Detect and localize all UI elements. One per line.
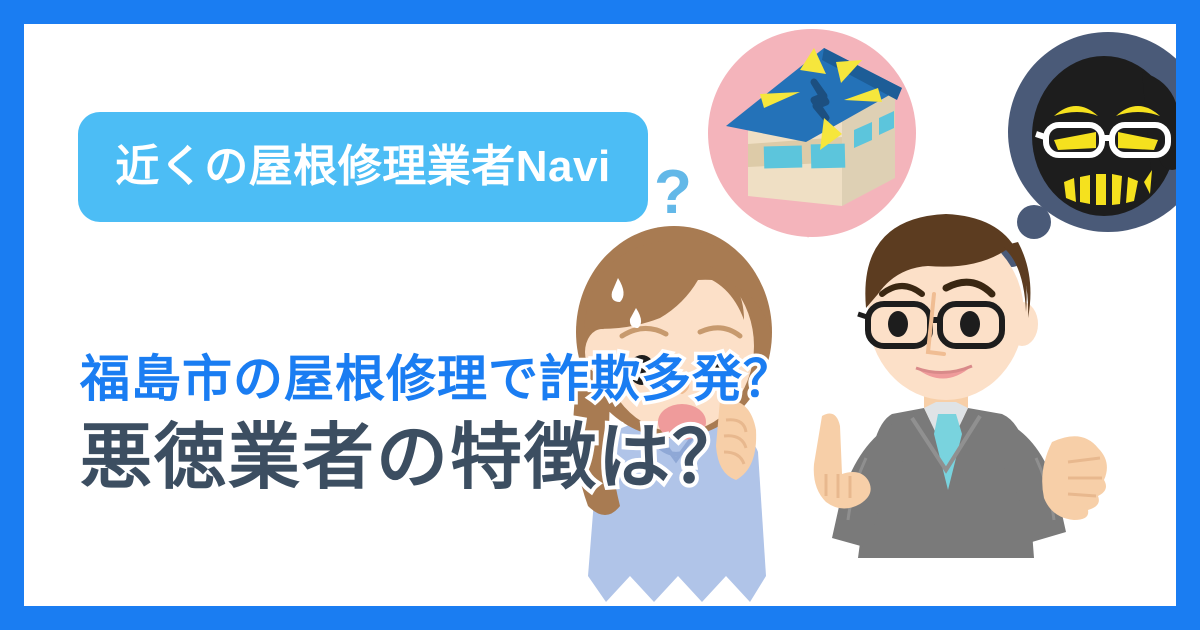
banner-canvas: 近くの屋根修理業者Navi ? 福島市の屋根修理で詐欺多発？ 悪徳業者の特徴は？ bbox=[24, 24, 1176, 606]
headline-block: 福島市の屋根修理で詐欺多発？ 悪徳業者の特徴は？ bbox=[80, 354, 794, 494]
site-name-badge[interactable]: 近くの屋根修理業者Navi bbox=[78, 112, 648, 222]
shady-face bbox=[1032, 56, 1176, 216]
pointing-businessman bbox=[796, 202, 1126, 606]
question-mark-icon: ? bbox=[654, 162, 692, 224]
headline-line-2: 悪徳業者の特徴は？ bbox=[80, 422, 794, 494]
headline-line-1: 福島市の屋根修理で詐欺多発？ bbox=[80, 354, 794, 404]
site-name-badge-label: 近くの屋根修理業者Navi bbox=[115, 145, 610, 189]
banner-root: 近くの屋根修理業者Navi ? 福島市の屋根修理で詐欺多発？ 悪徳業者の特徴は？ bbox=[0, 0, 1200, 630]
